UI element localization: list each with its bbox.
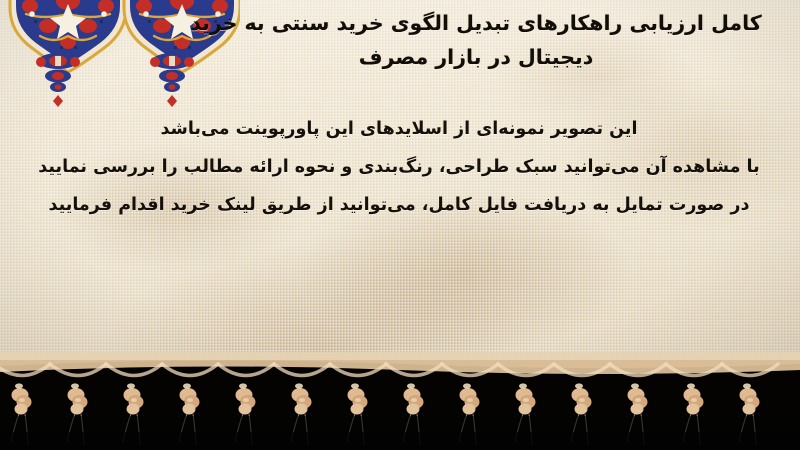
slide-title-line-1: کامل ارزیابی راهکارهای تبدیل الگوی خرید … bbox=[170, 6, 782, 40]
carpet-fringe-icon bbox=[0, 352, 800, 450]
slide-title-line-2: دیجیتال در بازار مصرف bbox=[170, 40, 782, 74]
body-line-2: با مشاهده آن می‌توانید سبک طراحی، رنگ‌بن… bbox=[16, 148, 782, 186]
body-line-1: این تصویر نمونه‌ای از اسلایدهای این پاور… bbox=[16, 110, 782, 148]
slide-body-text: این تصویر نمونه‌ای از اسلایدهای این پاور… bbox=[16, 110, 782, 224]
slide-canvas: کامل ارزیابی راهکارهای تبدیل الگوی خرید … bbox=[0, 0, 800, 450]
slide-title: کامل ارزیابی راهکارهای تبدیل الگوی خرید … bbox=[170, 6, 782, 74]
body-line-3: در صورت تمایل به دریافت فایل کامل، می‌تو… bbox=[16, 186, 782, 224]
